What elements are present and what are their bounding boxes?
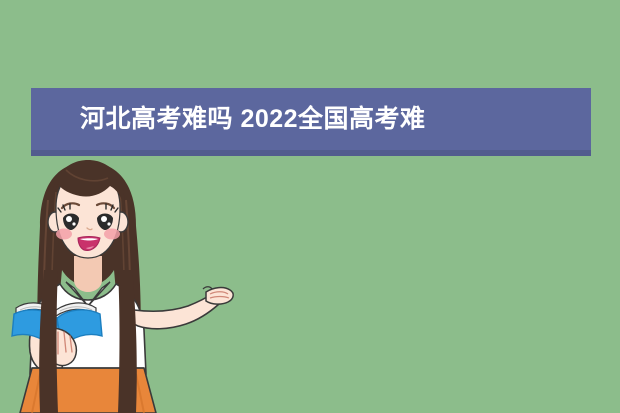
title-banner-underline (31, 150, 591, 156)
article-thumbnail: 河北高考难吗 2022全国高考难 (0, 0, 620, 413)
page-title: 河北高考难吗 2022全国高考难 (80, 88, 426, 150)
blush-left (56, 229, 72, 240)
blush-right (104, 229, 120, 240)
neck (74, 256, 102, 292)
girl-holding-book-illustration (0, 160, 300, 413)
title-banner: 河北高考难吗 2022全国高考难 (31, 88, 591, 156)
